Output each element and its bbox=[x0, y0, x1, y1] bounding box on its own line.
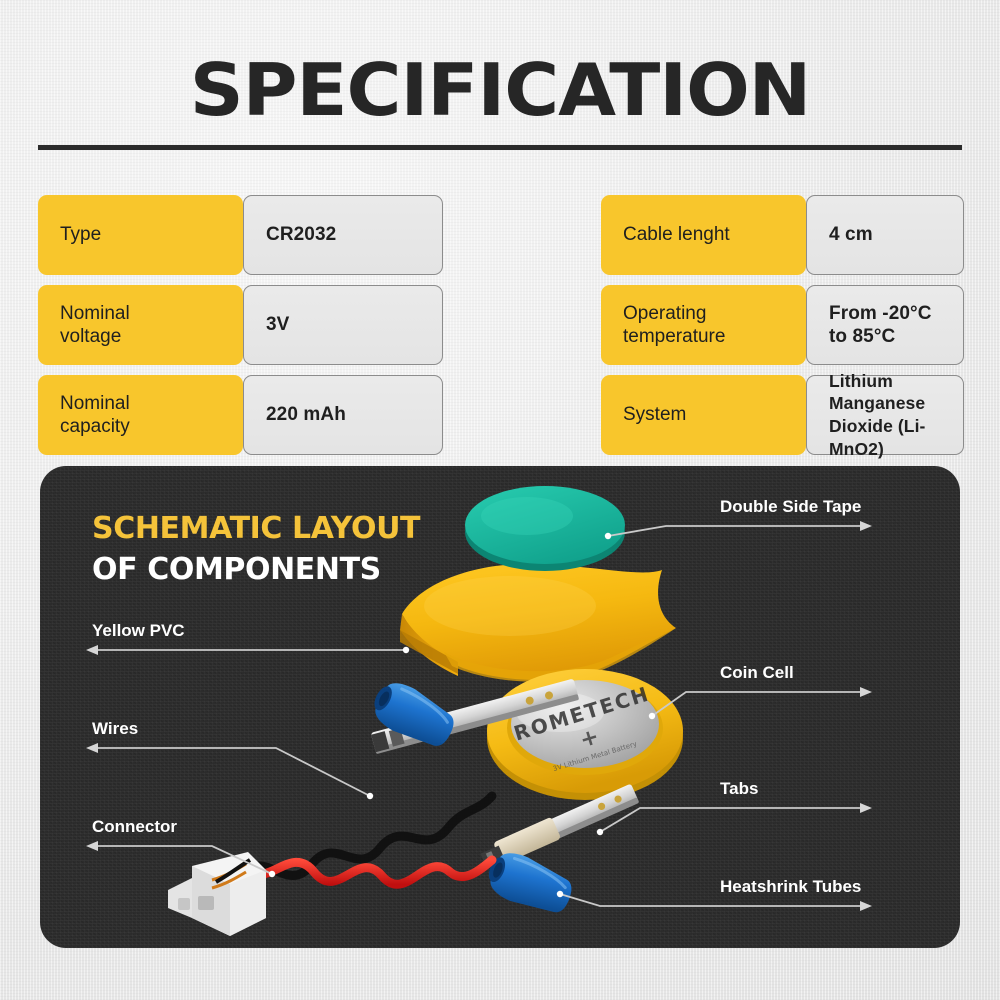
spec-label-text: Operatingtemperature bbox=[623, 302, 725, 348]
column-gap bbox=[443, 195, 601, 275]
header-divider bbox=[38, 145, 962, 150]
spec-label-text: Nominalcapacity bbox=[60, 392, 130, 438]
schematic-heading: SCHEMATIC LAYOUT OF COMPONENTS bbox=[92, 511, 420, 587]
spec-label-text: Nominalvoltage bbox=[60, 302, 130, 348]
specification-infographic: SPECIFICATION Type CR2032 Cable lenght 4… bbox=[0, 0, 1000, 1000]
spec-label-text: Cable lenght bbox=[623, 223, 730, 246]
schematic-heading-line1: SCHEMATIC LAYOUT bbox=[92, 511, 420, 546]
column-gap bbox=[443, 375, 601, 455]
spec-value-text: 4 cm bbox=[829, 223, 873, 246]
spec-value-operating-temperature: From -20°C to 85°C bbox=[806, 285, 964, 365]
spec-value-cable-lenght: 4 cm bbox=[806, 195, 964, 275]
spec-value-text: 3V bbox=[266, 313, 289, 336]
spec-value-text: Lithium Manganese Dioxide (Li-MnO2) bbox=[829, 370, 941, 461]
callout-double-side-tape: Double Side Tape bbox=[720, 497, 861, 517]
schematic-heading-line2: OF COMPONENTS bbox=[92, 552, 420, 587]
spec-label-operating-temperature: Operatingtemperature bbox=[601, 285, 806, 365]
schematic-panel: SCHEMATIC LAYOUT OF COMPONENTS bbox=[40, 466, 960, 948]
spec-value-text: 220 mAh bbox=[266, 403, 346, 426]
spec-value-type: CR2032 bbox=[243, 195, 443, 275]
spec-label-nominal-voltage: Nominalvoltage bbox=[38, 285, 243, 365]
callout-yellow-pvc: Yellow PVC bbox=[92, 621, 185, 641]
spec-value-text: From -20°C to 85°C bbox=[829, 302, 941, 348]
callout-heatshrink-tubes: Heatshrink Tubes bbox=[720, 877, 861, 897]
column-gap bbox=[443, 285, 601, 365]
spec-label-system: System bbox=[601, 375, 806, 455]
spec-value-nominal-voltage: 3V bbox=[243, 285, 443, 365]
callout-coin-cell: Coin Cell bbox=[720, 663, 794, 683]
callout-connector: Connector bbox=[92, 817, 177, 837]
spec-label-nominal-capacity: Nominalcapacity bbox=[38, 375, 243, 455]
spec-value-system: Lithium Manganese Dioxide (Li-MnO2) bbox=[806, 375, 964, 455]
spec-label-cable-lenght: Cable lenght bbox=[601, 195, 806, 275]
spec-value-text: CR2032 bbox=[266, 223, 336, 246]
spec-label-type: Type bbox=[38, 195, 243, 275]
spec-value-nominal-capacity: 220 mAh bbox=[243, 375, 443, 455]
page-title: SPECIFICATION bbox=[0, 48, 1000, 132]
spec-label-text: System bbox=[623, 403, 686, 426]
specification-table: Type CR2032 Cable lenght 4 cm Nominalvol… bbox=[38, 195, 964, 455]
callout-wires: Wires bbox=[92, 719, 138, 739]
spec-label-text: Type bbox=[60, 223, 101, 246]
callout-tabs: Tabs bbox=[720, 779, 758, 799]
